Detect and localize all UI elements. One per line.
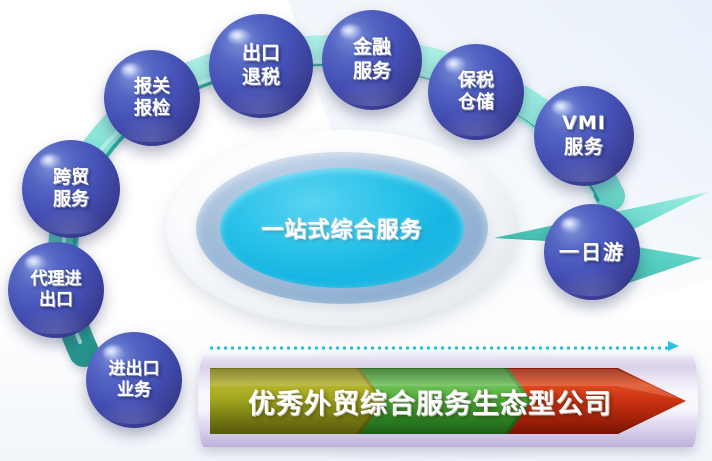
node-label-line-1: 一日游 [559,240,625,265]
node-label-line-2: 出口 [39,290,73,311]
node-sphere-daili-jinchukou[interactable]: 代理进 出口 [8,242,104,338]
node-sphere-baoguan-baojian[interactable]: 报关 报检 [104,50,200,146]
core-center-label: 一站式综合服务 [261,212,422,244]
diagram-canvas: 一站式综合服务 报关 报检 出口 退税 金融 服务 保税 仓储 VMI 服务 一 [0,0,712,461]
banner-chevron-arrow[interactable] [210,366,688,436]
node-label-line-1: 代理进 [31,269,82,290]
node-label-line-1: VMI [562,112,606,136]
node-sphere-vmi-fuwu[interactable]: VMI 服务 [534,86,634,186]
node-label-line-2: 业务 [117,380,151,401]
node-label-line-1: 保税 [458,70,494,93]
node-sphere-baoshui-cangchu[interactable]: 保税 仓储 [428,44,524,140]
node-sphere-yiriyou[interactable]: 一日游 [544,204,640,300]
node-label-line-1: 出口 [242,42,280,66]
node-label-line-1: 报关 [134,76,170,99]
node-sphere-jinchukou-yewu[interactable]: 进出口 业务 [86,332,182,428]
node-label-line-2: 报检 [134,98,170,121]
dotted-line-arrowhead-icon [668,341,679,351]
node-label-line-2: 服务 [53,189,89,212]
node-label-line-2: 仓储 [458,92,494,115]
core-center-node[interactable]: 一站式综合服务 [220,168,464,288]
node-label-line-2: 服务 [353,60,391,84]
node-sphere-jinrong-fuwu[interactable]: 金融 服务 [322,10,422,110]
node-label-line-2: 退税 [242,66,280,90]
node-label-line-1: 金融 [353,36,391,60]
node-label-line-2: 服务 [564,136,604,160]
node-label-line-1: 跨贸 [53,167,89,190]
node-sphere-chukou-tuishui[interactable]: 出口 退税 [209,14,313,118]
dotted-progress-line [208,345,670,351]
node-sphere-kuamao-fuwu[interactable]: 跨贸 服务 [22,140,120,238]
node-label-line-1: 进出口 [109,359,160,380]
